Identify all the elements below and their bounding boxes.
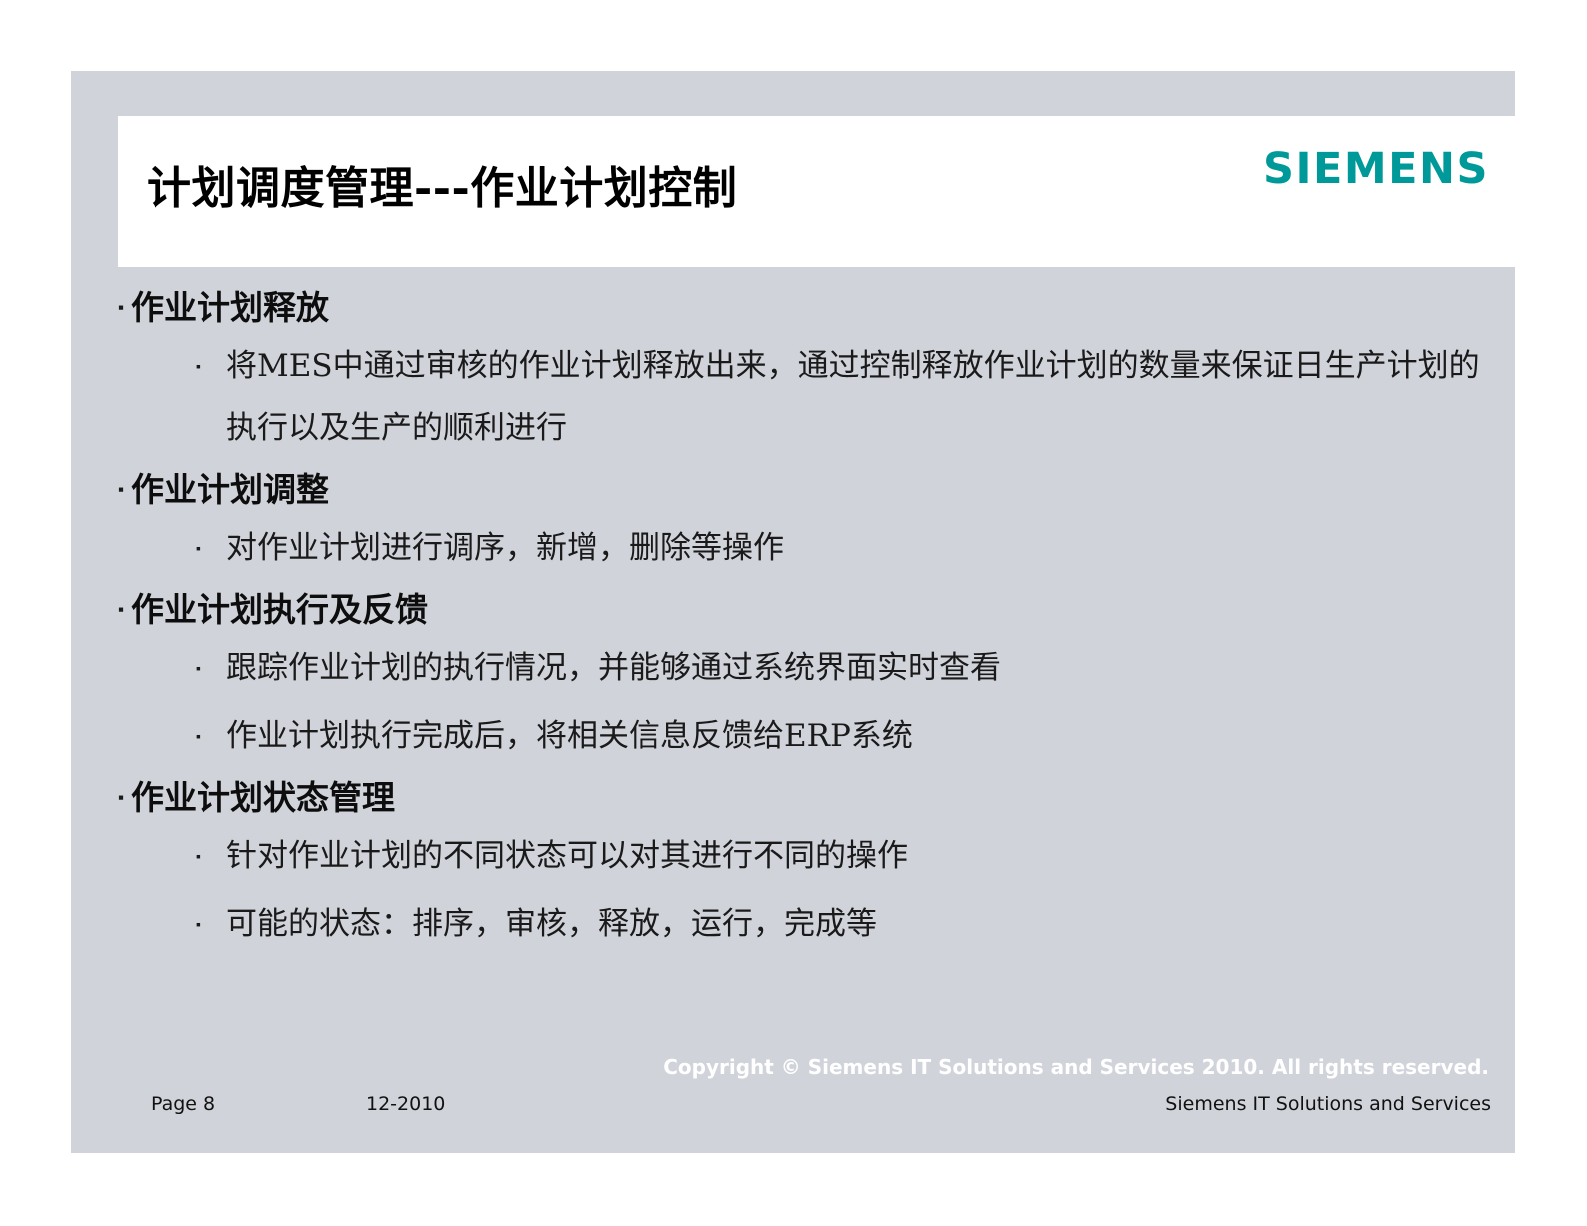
bullet-level2-label: 将MES中通过审核的作业计划释放出来，通过控制释放作业计划的数量来保证日生产计划… (226, 335, 1494, 459)
square-bullet-icon (196, 825, 226, 887)
square-bullet-icon (118, 465, 131, 515)
slide-body: 作业计划释放 将MES中通过审核的作业计划释放出来，通过控制释放作业计划的数量来… (118, 283, 1515, 1043)
copyright-notice: Copyright © Siemens IT Solutions and Ser… (71, 1055, 1489, 1079)
footer-organization: Siemens IT Solutions and Services (1165, 1093, 1491, 1115)
square-bullet-icon (118, 773, 131, 823)
bullet-level2-label: 对作业计划进行调序，新增，删除等操作 (226, 517, 784, 579)
square-bullet-icon (118, 283, 131, 333)
bullet-level1-label: 作业计划状态管理 (131, 773, 395, 823)
page-number: Page 8 (151, 1093, 215, 1115)
square-bullet-icon (118, 585, 131, 635)
bullet-level2-label: 作业计划执行完成后，将相关信息反馈给ERP系统 (226, 705, 913, 767)
bullet-level2: 可能的状态：排序，审核，释放，运行，完成等 (118, 893, 1515, 955)
title-band: 计划调度管理---作业计划控制 SIEMENS (118, 116, 1515, 267)
bullet-level1-label: 作业计划调整 (131, 465, 329, 515)
siemens-logo: SIEMENS (1263, 144, 1489, 194)
square-bullet-icon (196, 637, 226, 699)
bullet-level2: 跟踪作业计划的执行情况，并能够通过系统界面实时查看 (118, 637, 1515, 699)
square-bullet-icon (196, 517, 226, 579)
bullet-level1: 作业计划执行及反馈 (118, 585, 1515, 635)
slide-footer: Page 8 12-2010 Siemens IT Solutions and … (71, 1093, 1515, 1123)
square-bullet-icon (196, 893, 226, 955)
bullet-level1: 作业计划状态管理 (118, 773, 1515, 823)
bullet-level2: 作业计划执行完成后，将相关信息反馈给ERP系统 (118, 705, 1515, 767)
square-bullet-icon (196, 705, 226, 767)
page-title: 计划调度管理---作业计划控制 (147, 152, 737, 216)
bullet-level2-label: 可能的状态：排序，审核，释放，运行，完成等 (226, 893, 877, 955)
bullet-level1: 作业计划释放 (118, 283, 1515, 333)
bullet-level1: 作业计划调整 (118, 465, 1515, 515)
bullet-level2: 对作业计划进行调序，新增，删除等操作 (118, 517, 1515, 579)
slide-canvas: 计划调度管理---作业计划控制 SIEMENS 作业计划释放 将MES中通过审核… (71, 71, 1515, 1153)
bullet-level1-label: 作业计划执行及反馈 (131, 585, 428, 635)
bullet-level2-label: 跟踪作业计划的执行情况，并能够通过系统界面实时查看 (226, 637, 1001, 699)
bullet-level1-label: 作业计划释放 (131, 283, 329, 333)
square-bullet-icon (196, 335, 226, 397)
bullet-level2: 将MES中通过审核的作业计划释放出来，通过控制释放作业计划的数量来保证日生产计划… (118, 335, 1515, 459)
bullet-level2: 针对作业计划的不同状态可以对其进行不同的操作 (118, 825, 1515, 887)
footer-date: 12-2010 (366, 1093, 445, 1115)
bullet-level2-label: 针对作业计划的不同状态可以对其进行不同的操作 (226, 825, 908, 887)
